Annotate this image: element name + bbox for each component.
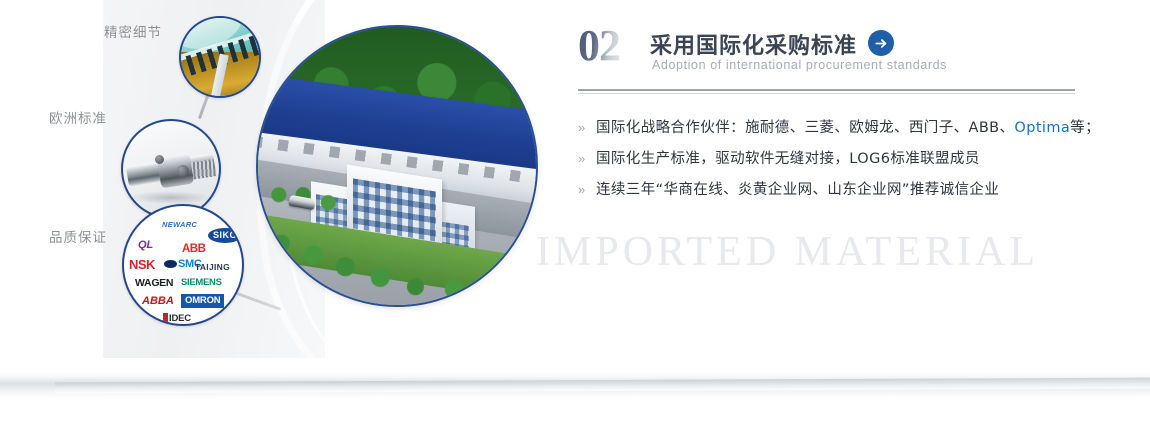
watermark-text: IMPORTED MATERIAL: [536, 228, 1136, 276]
list-item: » 国际化生产标准，驱动软件无缝对接，LOG6标准联盟成员: [578, 149, 1098, 169]
logo-siko: SIKO: [208, 228, 242, 243]
smc-dot-icon: [164, 260, 177, 268]
brand-logos-photo: NEWARC SIKO QL ABB NSK SMC TAIJING WAGEN…: [122, 204, 244, 326]
page-title: 采用国际化采购标准: [650, 28, 857, 60]
list-item: » 国际化战略合作伙伴：施耐德、三菱、欧姆龙、西门子、ABB、Optima等；: [578, 118, 1098, 138]
chevron-double-right-icon: »: [578, 149, 596, 169]
bullet-text-3: 连续三年“华商在线、炎黄企业网、山东企业网”推荐诚信企业: [596, 180, 999, 200]
section-number: 02: [578, 24, 620, 68]
ball-screw-port-2: [155, 155, 164, 164]
header-divider-thick: [578, 89, 1075, 91]
label-quality-assurance: 品质保证: [49, 226, 107, 246]
ball-screw-thread: [189, 159, 216, 180]
logo-omron: OMRON: [181, 294, 224, 308]
label-precision-detail: 精密细节: [104, 21, 162, 41]
bullet-text-1-after: 等；: [1070, 120, 1100, 136]
ball-screw-shadow: [129, 191, 212, 203]
gear-teeth-photo: [179, 16, 261, 98]
logo-wagen: WAGEN: [135, 278, 173, 289]
header-divider-thin: [578, 93, 1075, 94]
logo-abba: ABBA: [142, 296, 174, 307]
chevron-double-right-icon: »: [578, 118, 596, 138]
logo-ql: QL: [138, 240, 153, 251]
bullet-text-2: 国际化生产标准，驱动软件无缝对接，LOG6标准联盟成员: [596, 149, 980, 169]
bullet-text-1-before: 国际化战略合作伙伴：施耐德、三菱、欧姆龙、西门子、ABB、: [596, 120, 1014, 136]
logo-siemens: SIEMENS: [181, 278, 222, 288]
section-subtitle: Adoption of international procurement st…: [652, 58, 947, 72]
logo-nsk: NSK: [129, 258, 155, 271]
content-column: 02 采用国际化采购标准 Adoption of international p…: [578, 0, 1118, 430]
factory-aerial-photo: [256, 25, 538, 307]
idec-bar-icon: [163, 313, 168, 322]
logo-abb: ABB: [182, 244, 205, 256]
bullet-text-1-highlight: Optima: [1014, 120, 1070, 136]
bottom-filler: [0, 398, 1150, 430]
list-item: » 连续三年“华商在线、炎黄企业网、山东企业网”推荐诚信企业: [578, 180, 1098, 200]
brand-logo-cloud: NEWARC SIKO QL ABB NSK SMC TAIJING WAGEN…: [124, 206, 242, 324]
chevron-double-right-icon: »: [578, 180, 596, 200]
bullet-list: » 国际化战略合作伙伴：施耐德、三菱、欧姆龙、西门子、ABB、Optima等； …: [578, 118, 1098, 211]
page-root: 精密细节 欧洲标准 品质保证 NEWARC SIKO QL ABB NSK SM…: [0, 0, 1150, 430]
bullet-text-1: 国际化战略合作伙伴：施耐德、三菱、欧姆龙、西门子、ABB、Optima等；: [596, 118, 1100, 138]
logo-newarc: NEWARC: [162, 221, 197, 229]
label-european-standard: 欧洲标准: [49, 107, 107, 127]
bottom-shelf-band: [0, 372, 1150, 398]
arrow-right-circle-icon[interactable]: [868, 30, 894, 56]
logo-taijing: TAIJING: [195, 263, 230, 272]
logo-idec: IDEC: [163, 313, 191, 324]
